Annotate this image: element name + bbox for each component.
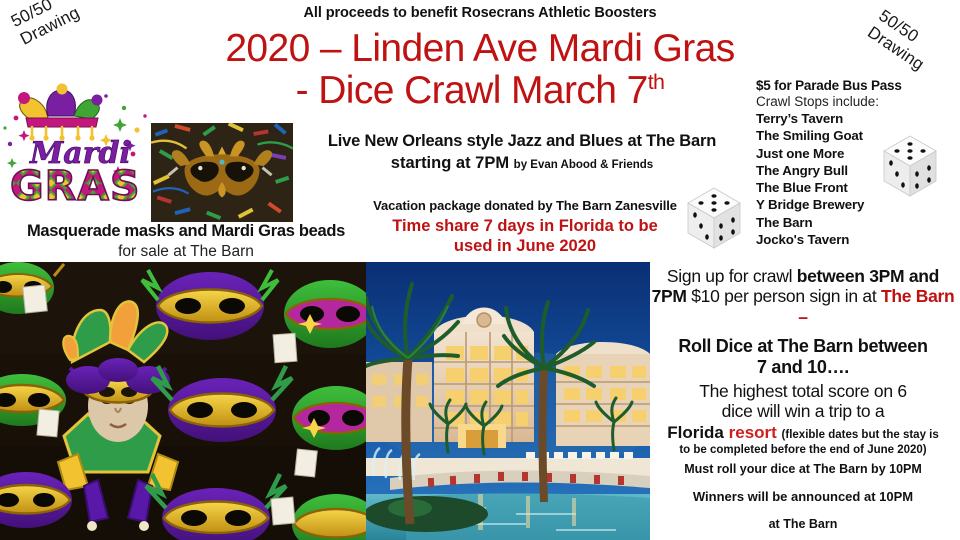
timeshare-line-1: Time share 7 days in Florida to be [340,216,710,236]
page-title: 2020 – Linden Ave Mardi Gras - Dice Craw… [130,27,830,112]
vacation-timeshare-lines: Time share 7 days in Florida to be used … [340,216,710,256]
music-info-block: Live New Orleans style Jazz and Blues at… [322,132,722,173]
prize-fine-print-1: (flexible dates but the stay is [782,429,939,441]
list-item: The Angry Bull [756,162,956,179]
mardi-gras-masks-wall-photo [0,262,366,540]
music-line-1: Live New Orleans style Jazz and Blues at… [322,132,722,151]
list-item: Y Bridge Brewery [756,196,956,213]
music-line-2: starting at 7PM by Evan Abood & Friends [322,154,722,173]
crawl-stops-heading: Crawl Stops include: [756,94,956,109]
vacation-package-block: Vacation package donated by The Barn Zan… [340,198,710,256]
prize-fine-print-2: to be completed before the end of June 2… [650,443,956,457]
prize-rules: The highest total score on 6 dice will w… [650,381,956,422]
title-line-1: 2020 – Linden Ave Mardi Gras [130,27,830,71]
list-item: The Smiling Goat [756,127,956,144]
signup-price-text: $10 per person sign in at [687,286,881,306]
flyer-canvas: 50/50 Drawing 50/50 Drawing All proceeds… [0,0,960,540]
mardi-gras-logo: Mardi GRAS [2,78,148,208]
benefit-line: All proceeds to benefit Rosecrans Athlet… [0,5,960,21]
title-line-2: - Dice Crawl March 7th [130,69,830,113]
mardi-gras-logo-art: Mardi GRAS [2,78,148,208]
masks-caption-block: Masquerade masks and Mardi Gras beads fo… [0,222,372,261]
prize-resort-word: resort [729,423,777,442]
roll-line-1: Roll Dice at The Barn between [650,336,956,357]
list-item: Just one More [756,145,956,162]
signup-prefix: Sign up for crawl [667,266,797,286]
roll-line-2: 7 and 10…. [650,357,956,378]
roll-dice-instructions: Roll Dice at The Barn between 7 and 10…. [650,336,956,378]
list-item: Terry’s Tavern [756,110,956,127]
list-item: The Blue Front [756,179,956,196]
prize-destination-line: Florida resort (flexible dates but the s… [650,423,956,442]
signup-info-block: Sign up for crawl between 3PM and 7PM $1… [650,266,956,531]
must-roll-deadline: Must roll your dice at The Barn by 10PM [650,462,956,476]
list-item: The Barn [756,214,956,231]
prize-line-2: dice will win a trip to a [650,401,956,421]
logo-word-block: GRAS [10,162,140,208]
white-die-left [676,178,752,254]
music-start-time: starting at 7PM [391,154,509,172]
title-ordinal-suffix: th [648,70,665,94]
golden-mask-confetti-photo [150,122,294,223]
vacation-donor-line: Vacation package donated by The Barn Zan… [340,198,710,213]
signup-instructions: Sign up for crawl between 3PM and 7PM $1… [650,266,956,327]
bus-pass-price: $5 for Parade Bus Pass [756,78,956,93]
music-performer-credit: by Evan Abood & Friends [514,159,654,171]
florida-resort-pool-night-photo [366,262,650,540]
winners-announcement: Winners will be announced at 10PM [650,489,956,504]
list-item: Jocko's Tavern [756,231,956,248]
timeshare-line-2: used in June 2020 [340,236,710,256]
title-line-2-main: - Dice Crawl March 7 [296,69,648,112]
crawl-stops-list: Terry’s Tavern The Smiling Goat Just one… [756,110,956,248]
prize-florida-word: Florida [667,423,724,442]
masks-caption-line-2: for sale at The Barn [0,243,372,261]
winners-location: at The Barn [650,517,956,531]
prize-line-1: The highest total score on 6 [650,381,956,401]
masks-caption-line-1: Masquerade masks and Mardi Gras beads [0,222,372,241]
crawl-stops-block: $5 for Parade Bus Pass Crawl Stops inclu… [756,78,956,248]
